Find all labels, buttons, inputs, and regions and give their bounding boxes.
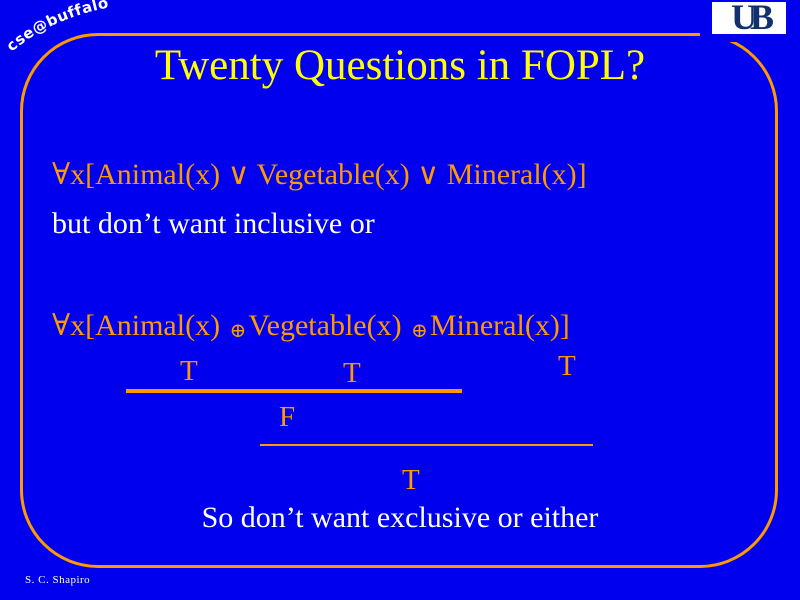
note-exclusive-or: So don’t want exclusive or either — [0, 503, 800, 533]
or-operator-icon: ∨ — [417, 158, 439, 191]
formula-inclusive-prefix: ∀x[Animal(x) — [52, 158, 228, 191]
formula-inclusive-middle: Vegetable(x) — [250, 158, 418, 191]
slide: cse@buffalo UB Twenty Questions in FOPL?… — [0, 0, 800, 600]
xor-operator-icon: ⊕ — [409, 320, 430, 342]
truth-value-first-xor: F — [279, 403, 295, 432]
formula-exclusive-suffix: Mineral(x)] — [430, 309, 570, 342]
formula-exclusive-prefix: ∀x[Animal(x) — [52, 309, 228, 342]
formula-exclusive-middle: Vegetable(x) — [248, 309, 409, 342]
footer-author: S. C. Shapiro — [25, 574, 90, 586]
formula-inclusive-suffix: Mineral(x)] — [439, 158, 586, 191]
truth-value-mineral: T — [558, 352, 576, 381]
slide-frame-border — [20, 33, 778, 568]
ub-logo-text: UB — [712, 0, 786, 37]
formula-inclusive-or: ∀x[Animal(x) ∨ Vegetable(x) ∨ Mineral(x)… — [52, 160, 587, 190]
note-inclusive-or: but don’t want inclusive or — [52, 209, 375, 239]
xor-operator-icon: ⊕ — [228, 320, 249, 342]
derivation-bar-first — [126, 389, 462, 393]
formula-exclusive-or: ∀x[Animal(x) ⊕Vegetable(x) ⊕Mineral(x)] — [52, 311, 570, 341]
truth-value-vegetable: T — [343, 359, 361, 388]
or-operator-icon: ∨ — [228, 158, 250, 191]
page-title: Twenty Questions in FOPL? — [0, 40, 800, 92]
derivation-bar-second — [260, 444, 593, 446]
truth-value-second-xor: T — [402, 466, 420, 495]
ub-logo: UB — [712, 2, 786, 34]
truth-value-animal: T — [180, 357, 198, 386]
